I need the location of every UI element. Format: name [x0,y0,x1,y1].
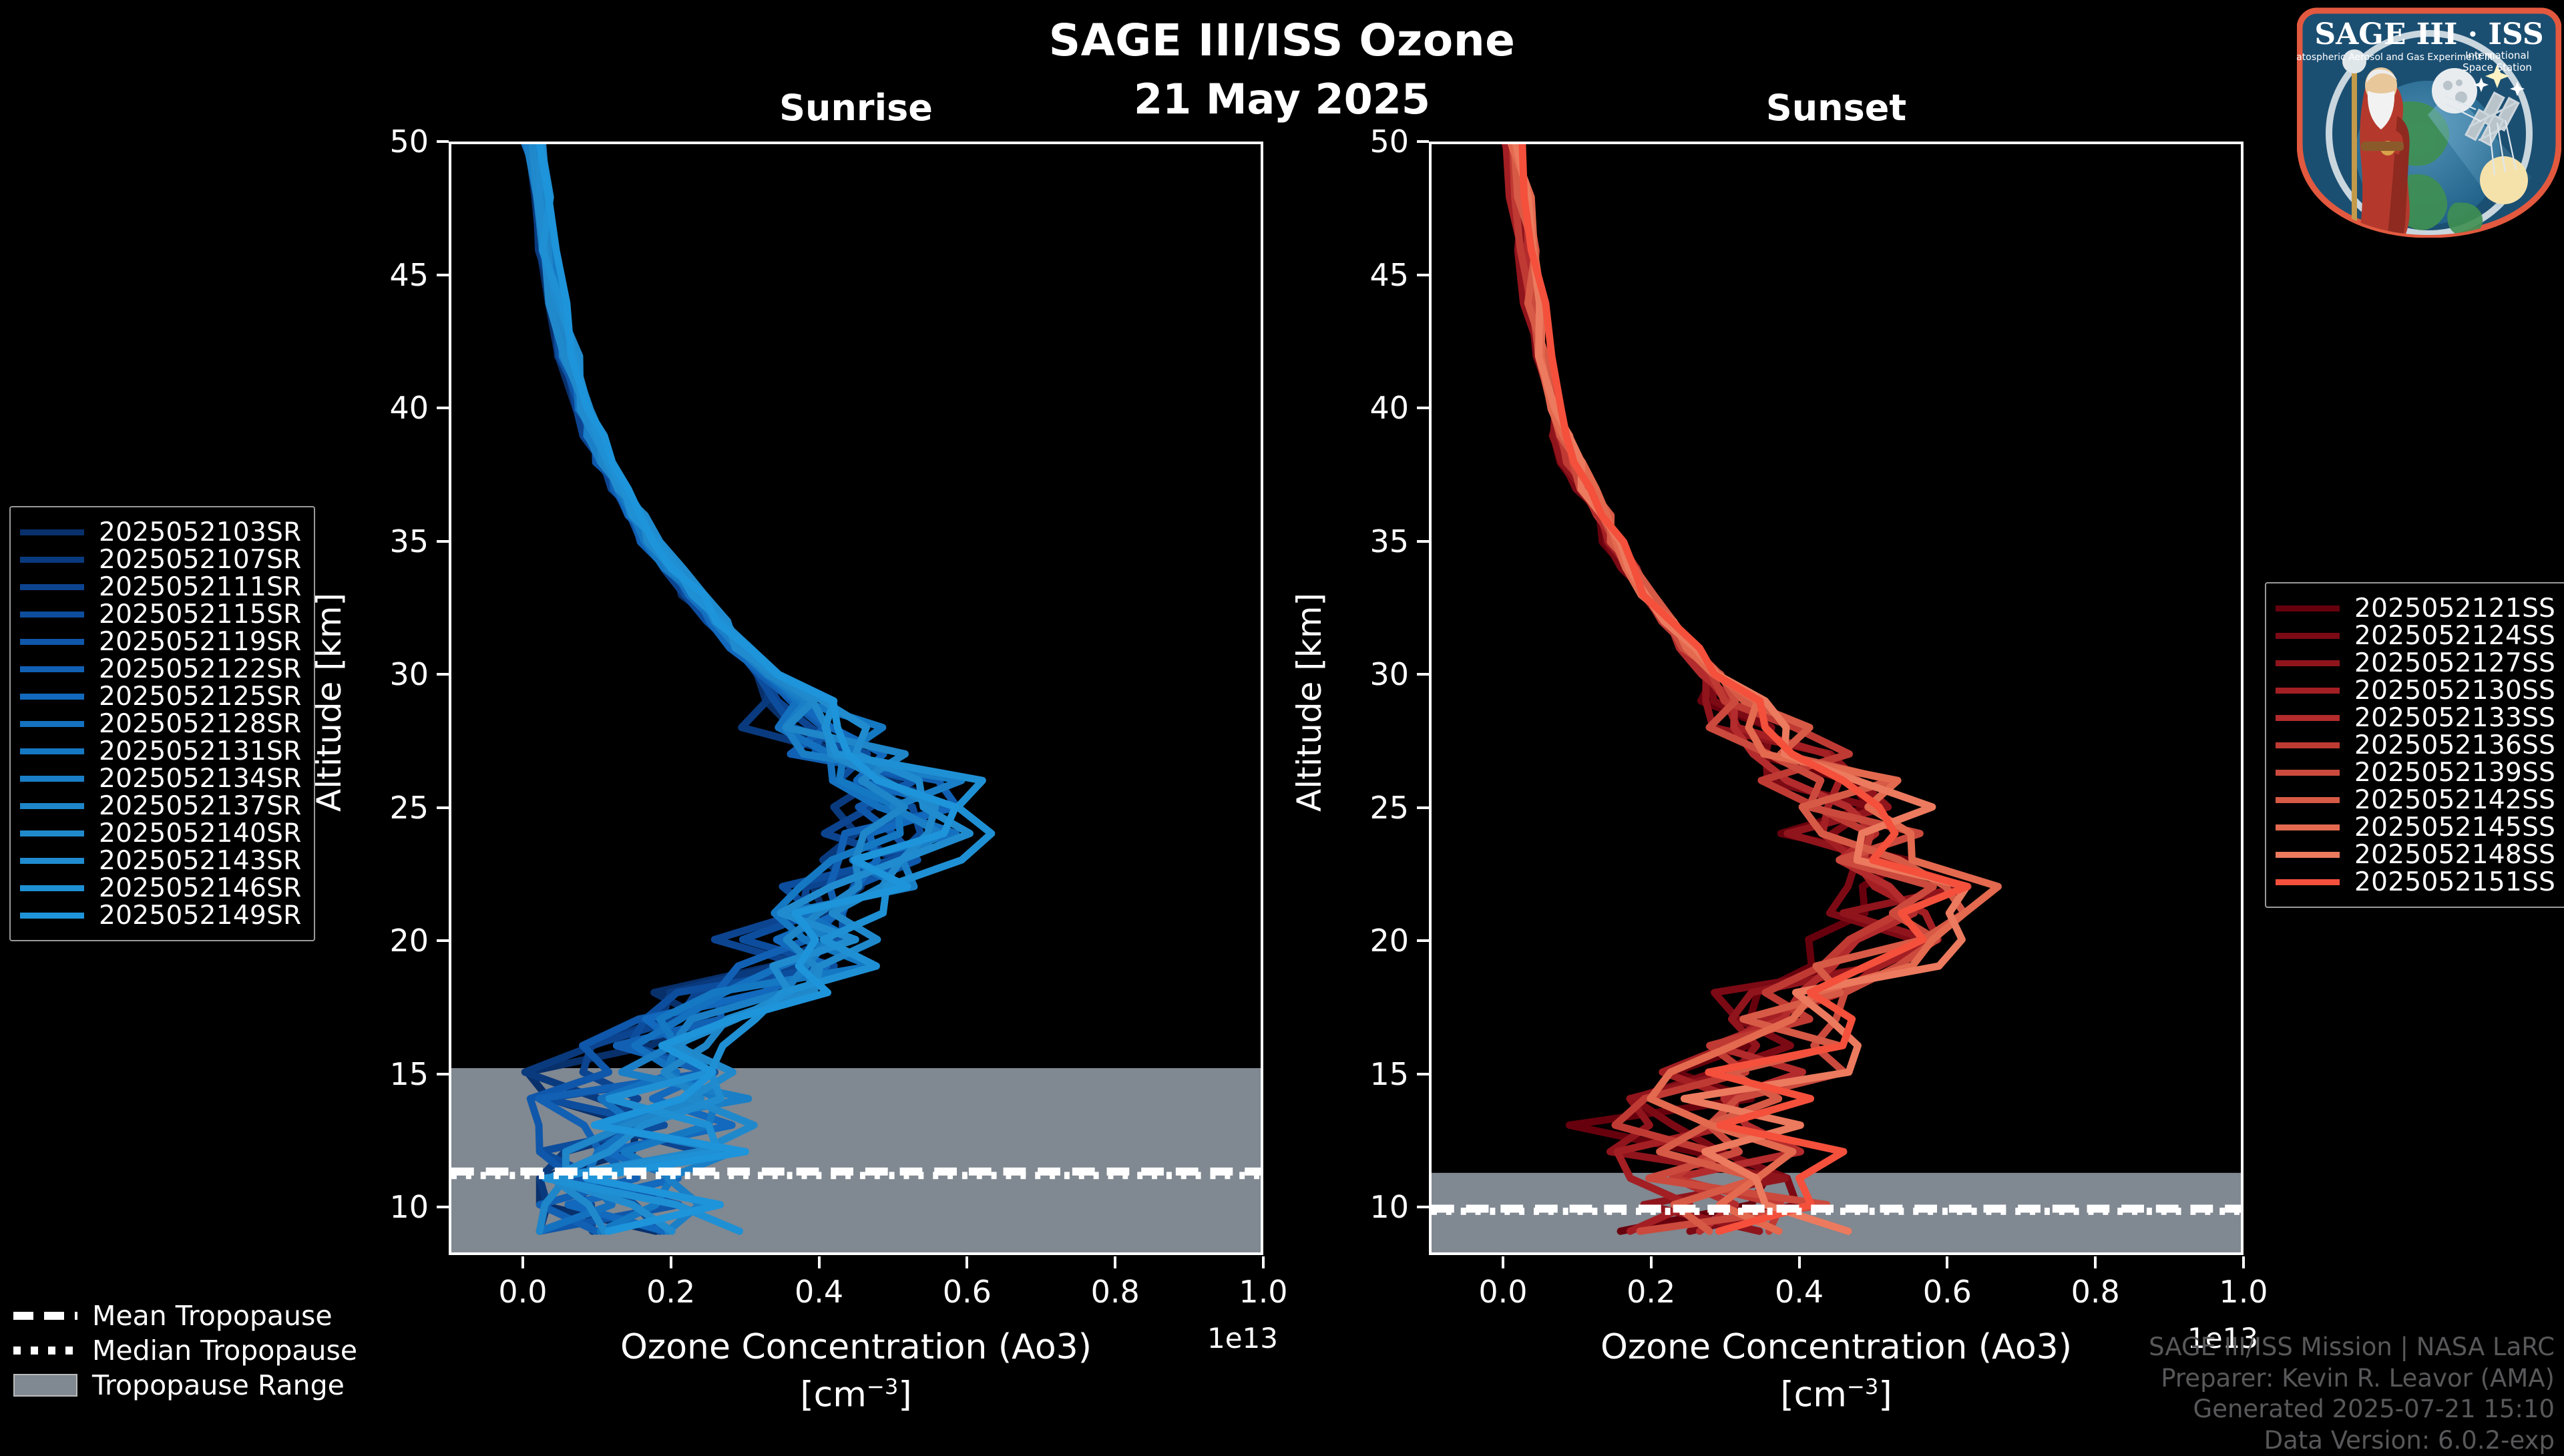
x-tick-label-sunrise: 0.6 [943,1274,992,1310]
y-tick-label-sunrise: 40 [349,390,429,426]
legend-label: 2025052124SS [2354,621,2555,651]
x-axis-title-sunset: Ozone Concentration (Ao3) [1429,1327,2243,1367]
legend-color-swatch [2276,688,2340,694]
legend-item[interactable]: 2025052131SR [20,739,302,763]
sage-iii-iss-mission-badge-icon: BALL · NASA LANGLEY RESEARCH CENTER · TA… [2297,3,2561,238]
y-tick-label-sunrise: 50 [349,124,429,160]
legend-item[interactable]: 2025052124SS [2276,624,2555,648]
legend-label-median-tropopause: Median Tropopause [92,1334,357,1367]
filled-box-icon [13,1374,77,1397]
legend-label-mean-tropopause: Mean Tropopause [92,1300,333,1332]
x-tick-label-sunrise: 0.4 [795,1274,843,1310]
legend-item[interactable]: 2025052142SS [2276,788,2555,812]
legend-item[interactable]: 2025052127SS [2276,651,2555,675]
legend-item[interactable]: 2025052151SS [2276,870,2555,894]
y-tick-mark [1417,140,1429,143]
legend-item[interactable]: 2025052121SS [2276,596,2555,620]
x-tick-mark [1502,1256,1504,1268]
x-tick-mark [1650,1256,1653,1268]
legend-color-swatch [2276,605,2340,612]
credit-line-mission: SAGE III/ISS Mission | NASA LaRC [2149,1332,2555,1363]
legend-color-swatch [2276,770,2340,776]
legend-label-tropopause-range: Tropopause Range [92,1369,345,1401]
y-tick-mark [437,540,449,543]
y-tick-label-sunset: 35 [1329,523,1409,559]
legend-item[interactable]: 2025052143SR [20,848,302,873]
legend-label: 2025052143SR [99,846,302,876]
legend-item-tropopause-range: Tropopause Range [13,1368,357,1403]
dotted-line-icon [13,1347,77,1355]
y-tick-label-sunset: 10 [1329,1189,1409,1225]
x-axis-units-sunset: [cm−3] [1429,1374,2243,1415]
y-tick-mark [437,274,449,276]
y-axis-title-sunset: Altitude [km] [1290,593,1329,812]
x-tick-label-sunrise: 0.2 [646,1274,695,1310]
legend-color-swatch [20,830,84,836]
legend-color-swatch [2276,660,2340,666]
x-tick-mark [521,1256,524,1268]
legend-color-swatch [2276,715,2340,721]
y-tick-label-sunset: 30 [1329,656,1409,692]
legend-label: 2025052139SS [2354,758,2555,788]
legend-label: 2025052137SR [99,791,302,821]
legend-item[interactable]: 2025052140SR [20,821,302,845]
y-tick-label-sunrise: 15 [349,1056,429,1092]
x-tick-mark [2094,1256,2097,1268]
y-tick-mark [1417,1206,1429,1208]
legend-item[interactable]: 2025052137SR [20,794,302,818]
plot-area-sunset [1429,142,2243,1255]
x-tick-mark [966,1256,968,1268]
legend-color-swatch [2276,797,2340,803]
x-tick-mark [670,1256,672,1268]
y-tick-label-sunset: 25 [1329,790,1409,826]
credit-line-preparer: Preparer: Kevin R. Leavor (AMA) [2149,1363,2555,1395]
x-tick-mark [1946,1256,1948,1268]
y-tick-mark [437,407,449,409]
y-tick-label-sunset: 50 [1329,124,1409,160]
legend-color-swatch [2276,879,2340,885]
legend-item[interactable]: 2025052130SS [2276,678,2555,702]
y-tick-label-sunset: 20 [1329,923,1409,959]
x-tick-label-sunset: 0.4 [1775,1274,1824,1310]
legend-color-swatch [20,639,84,645]
y-tick-label-sunrise: 10 [349,1189,429,1225]
x-tick-mark [818,1256,821,1268]
y-tick-label-sunrise: 45 [349,257,429,293]
plot-area-sunrise [449,142,1263,1255]
legend-label: 2025052127SS [2354,648,2555,678]
legend-color-swatch [20,666,84,672]
legend-label: 2025052128SR [99,709,302,739]
legend-color-swatch [20,913,84,919]
x-tick-label-sunset: 0.6 [1923,1274,1972,1310]
legend-item[interactable]: 2025052115SR [20,602,302,626]
x-tick-mark [2242,1256,2245,1268]
legend-color-swatch [20,612,84,618]
legend-color-swatch [20,803,84,809]
x-tick-label-sunrise: 0.8 [1091,1274,1140,1310]
y-tick-label-sunset: 40 [1329,390,1409,426]
legend-label: 2025052142SS [2354,785,2555,815]
y-tick-mark [437,673,449,676]
legend-label: 2025052133SS [2354,703,2555,733]
legend-color-swatch [20,721,84,727]
legend-label: 2025052136SS [2354,730,2555,760]
legend-label: 2025052131SR [99,736,302,766]
legend-label: 2025052111SR [99,572,302,602]
credit-line-generated: Generated 2025-07-21 15:10 [2149,1394,2555,1425]
x-axis-units-sunrise: [cm−3] [449,1374,1263,1415]
legend-item[interactable]: 2025052149SR [20,903,302,927]
legend-sunset[interactable]: 2025052121SS2025052124SS2025052127SS2025… [2265,582,2564,908]
credits-block: SAGE III/ISS Mission | NASA LaRC Prepare… [2149,1332,2555,1456]
x-tick-label-sunset: 0.2 [1627,1274,1675,1310]
legend-label: 2025052121SS [2354,593,2555,624]
legend-item[interactable]: 2025052136SS [2276,733,2555,757]
x-tick-mark [1114,1256,1116,1268]
legend-label: 2025052149SR [99,901,302,931]
y-tick-mark [1417,1073,1429,1075]
legend-color-swatch [2276,633,2340,639]
legend-item[interactable]: 2025052133SS [2276,706,2555,730]
legend-item[interactable]: 2025052107SR [20,547,302,571]
legend-label: 2025052130SS [2354,676,2555,706]
y-tick-mark [437,1073,449,1075]
legend-item-median-tropopause: Median Tropopause [13,1333,357,1368]
y-tick-mark [437,1206,449,1208]
x-tick-label-sunset: 0.8 [2071,1274,2120,1310]
y-tick-mark [1417,806,1429,809]
legend-color-swatch [20,584,84,590]
x-axis-title-sunrise: Ozone Concentration (Ao3) [449,1327,1263,1367]
legend-sunrise[interactable]: 2025052103SR2025052107SR2025052111SR2025… [9,506,315,941]
legend-item[interactable]: 2025052139SS [2276,760,2555,784]
legend-item[interactable]: 2025052111SR [20,575,302,599]
legend-item[interactable]: 2025052134SR [20,766,302,790]
x-tick-label-sunrise: 0.0 [498,1274,547,1310]
legend-item[interactable]: 2025052128SR [20,712,302,736]
credit-line-version: Data Version: 6.0.2-exp [2149,1425,2555,1456]
y-tick-mark [1417,540,1429,543]
legend-item[interactable]: 2025052103SR [20,520,302,544]
legend-label: 2025052115SR [99,599,302,630]
legend-color-swatch [20,776,84,782]
x-tick-label-sunset: 1.0 [2219,1274,2268,1310]
y-tick-label-sunset: 45 [1329,257,1409,293]
y-tick-mark [1417,939,1429,942]
legend-label: 2025052125SR [99,682,302,712]
legend-item-mean-tropopause: Mean Tropopause [13,1298,357,1333]
y-tick-label-sunset: 15 [1329,1056,1409,1092]
legend-color-swatch [2276,824,2340,830]
badge-subtitle-right-2: Space Station [2463,61,2532,73]
y-tick-label-sunrise: 30 [349,656,429,692]
legend-item[interactable]: 2025052145SS [2276,815,2555,839]
legend-label: 2025052134SR [99,764,302,794]
legend-label: 2025052103SR [99,517,302,547]
legend-label: 2025052119SR [99,627,302,657]
y-tick-mark [1417,274,1429,276]
legend-item[interactable]: 2025052146SR [20,876,302,900]
y-tick-mark [437,140,449,143]
badge-subtitle-right-1: International [2465,49,2529,61]
legend-item[interactable]: 2025052148SS [2276,842,2555,867]
y-tick-label-sunrise: 20 [349,923,429,959]
page-title: SAGE III/ISS Ozone [0,15,2564,66]
x-axis-exponent-sunrise: 1e13 [1207,1322,1278,1355]
y-axis-title-sunrise: Altitude [km] [310,593,349,812]
legend-color-swatch [2276,742,2340,748]
y-tick-label-sunrise: 35 [349,523,429,559]
x-tick-label-sunrise: 1.0 [1239,1274,1287,1310]
legend-color-swatch [20,885,84,891]
legend-color-swatch [2276,852,2340,858]
legend-label: 2025052151SS [2354,867,2555,897]
legend-label: 2025052140SR [99,818,302,848]
legend-label: 2025052122SR [99,654,302,684]
badge-title: SAGE III · ISS [2314,17,2543,51]
legend-color-swatch [20,529,84,535]
dashed-line-icon [13,1312,77,1320]
legend-color-swatch [20,858,84,864]
legend-color-swatch [20,557,84,563]
legend-label: 2025052148SS [2354,840,2555,870]
legend-label: 2025052146SR [99,873,302,903]
legend-tropopause: Mean Tropopause Median Tropopause Tropop… [13,1298,357,1403]
legend-color-swatch [20,694,84,700]
y-tick-mark [1417,673,1429,676]
x-tick-mark [1262,1256,1265,1268]
y-tick-mark [437,806,449,809]
legend-color-swatch [20,748,84,754]
legend-item[interactable]: 2025052119SR [20,630,302,654]
panel-title-sunrise: Sunrise [449,87,1263,129]
x-tick-label-sunset: 0.0 [1478,1274,1527,1310]
legend-item[interactable]: 2025052122SR [20,657,302,681]
x-tick-mark [1798,1256,1801,1268]
panel-title-sunset: Sunset [1429,87,2243,129]
y-tick-label-sunrise: 25 [349,790,429,826]
y-tick-mark [1417,407,1429,409]
legend-label: 2025052145SS [2354,812,2555,842]
y-tick-mark [437,939,449,942]
legend-item[interactable]: 2025052125SR [20,684,302,708]
legend-label: 2025052107SR [99,545,302,575]
